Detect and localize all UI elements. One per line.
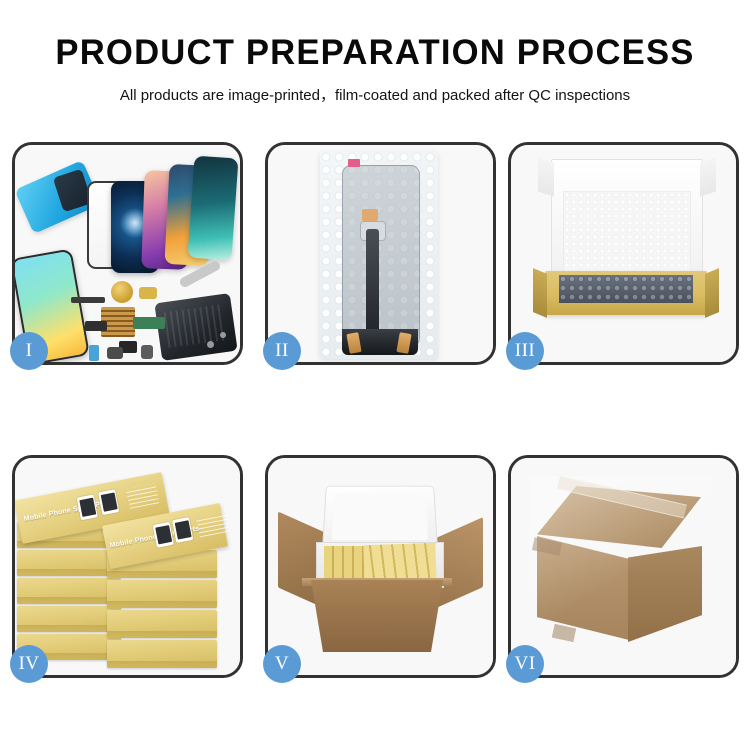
carton-side-face-icon xyxy=(628,546,702,642)
foam-sheet-icon xyxy=(563,191,691,273)
button-part-icon xyxy=(141,345,153,359)
process-step-6[interactable]: VI xyxy=(508,455,739,678)
gold-box xyxy=(107,640,217,668)
phone-thumbnail-icon xyxy=(77,494,98,520)
process-step-grid: I II III xyxy=(0,130,750,750)
step-badge-6: VI xyxy=(506,645,544,683)
camera-module-part-icon xyxy=(85,321,107,331)
motherboard-icon xyxy=(154,293,237,361)
screw-part-icon xyxy=(207,341,214,348)
process-step-4[interactable]: Mobile Phone Spare Parts Mobile Phone Sp… xyxy=(12,455,243,678)
page-header: PRODUCT PREPARATION PROCESS All products… xyxy=(0,0,750,130)
process-step-3[interactable]: III xyxy=(508,142,739,365)
step-6-image xyxy=(511,458,736,675)
tape-tab-icon xyxy=(552,624,576,642)
step-badge-3: III xyxy=(506,332,544,370)
gold-box-stack: Mobile Phone Spare Parts Mobile Phone Sp… xyxy=(15,458,240,675)
process-step-2[interactable]: II xyxy=(265,142,496,365)
pink-label-icon xyxy=(348,159,360,167)
green-flex-part-icon xyxy=(133,317,165,329)
step-1-image xyxy=(15,145,240,362)
step-3-image xyxy=(511,145,736,362)
process-step-1[interactable]: I xyxy=(12,142,243,365)
carton-body-icon xyxy=(302,580,452,652)
gold-box xyxy=(17,606,121,632)
step-badge-4: IV xyxy=(10,645,48,683)
phone-thumbnail-icon xyxy=(172,517,193,543)
teal-phone-icon xyxy=(187,156,238,261)
spec-checklist-icon xyxy=(126,483,159,508)
step-badge-5: V xyxy=(263,645,301,683)
box-side-left-icon xyxy=(533,268,547,318)
tape-tab-icon xyxy=(532,537,562,556)
bubble-wrapped-contents-icon xyxy=(559,275,693,303)
gold-connector-part-icon xyxy=(139,287,157,299)
battery-part-icon xyxy=(89,345,99,361)
kraft-box-tray-icon xyxy=(545,271,707,315)
orange-tape-icon xyxy=(362,209,378,221)
gold-box xyxy=(17,550,121,576)
gold-box xyxy=(17,578,121,604)
step-5-image xyxy=(268,458,493,675)
flex-strip-part-icon xyxy=(71,297,105,303)
speaker-part-icon xyxy=(107,347,123,359)
step-badge-2: II xyxy=(263,332,301,370)
step-4-image: Mobile Phone Spare Parts Mobile Phone Sp… xyxy=(15,458,240,675)
gold-box xyxy=(107,580,217,608)
phones-and-parts-scene xyxy=(15,145,240,362)
page-subtitle: All products are image-printed，film-coat… xyxy=(0,84,750,105)
speaker-coil-part-icon xyxy=(111,281,133,303)
step-badge-1: I xyxy=(10,332,48,370)
phone-thumbnail-icon xyxy=(98,489,119,515)
phone-thumbnail-icon xyxy=(153,522,174,548)
step-2-image xyxy=(268,145,493,362)
gold-box xyxy=(107,610,217,638)
box-side-right-icon xyxy=(705,268,719,318)
spec-checklist-icon xyxy=(196,512,229,537)
screw-part-icon xyxy=(220,332,226,338)
lcd-screen-icon xyxy=(342,165,420,347)
bubble-wrap-bag-icon xyxy=(320,151,438,359)
page-title: PRODUCT PREPARATION PROCESS xyxy=(4,33,747,73)
foam-lid-icon xyxy=(322,486,438,549)
process-step-5[interactable]: V xyxy=(265,455,496,678)
